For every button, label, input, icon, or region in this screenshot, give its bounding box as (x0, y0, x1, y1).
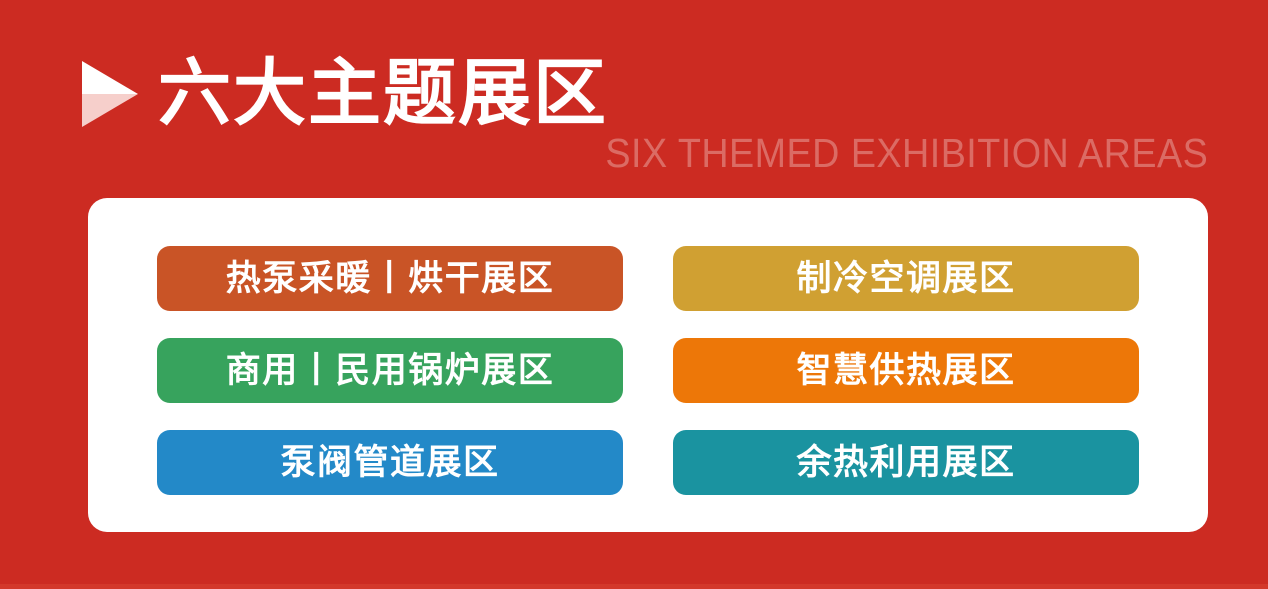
title-row: 六大主题展区 (78, 52, 1208, 136)
zone-grid: 热泵采暖丨烘干展区 制冷空调展区 商用丨民用锅炉展区 智慧供热展区 泵阀管道展区… (157, 246, 1139, 495)
zone-heat-pump-heating-drying[interactable]: 热泵采暖丨烘干展区 (157, 246, 623, 311)
six-themed-exhibition-areas-poster: 六大主题展区 SIX THEMED EXHIBITION AREAS 热泵采暖丨… (0, 0, 1268, 589)
poster-header: 六大主题展区 SIX THEMED EXHIBITION AREAS (78, 52, 1208, 182)
zone-label: 热泵采暖丨烘干展区 (226, 260, 555, 298)
zone-label: 制冷空调展区 (796, 260, 1015, 298)
zone-smart-heating[interactable]: 智慧供热展区 (673, 338, 1139, 403)
zones-card: 热泵采暖丨烘干展区 制冷空调展区 商用丨民用锅炉展区 智慧供热展区 泵阀管道展区… (88, 198, 1208, 532)
zone-label: 智慧供热展区 (796, 352, 1015, 390)
zone-label: 余热利用展区 (796, 444, 1015, 482)
bottom-edge-strip (0, 584, 1268, 589)
zone-commercial-residential-boiler[interactable]: 商用丨民用锅炉展区 (157, 338, 623, 403)
page-title: 六大主题展区 (158, 55, 608, 133)
zone-label: 泵阀管道展区 (280, 444, 499, 482)
page-subtitle: SIX THEMED EXHIBITION AREAS (605, 130, 1208, 176)
zone-label: 商用丨民用锅炉展区 (226, 352, 555, 390)
zone-waste-heat-utilization[interactable]: 余热利用展区 (673, 430, 1139, 495)
play-triangle-icon (78, 59, 140, 129)
zone-pump-valve-pipeline[interactable]: 泵阀管道展区 (157, 430, 623, 495)
zone-refrigeration-air-conditioning[interactable]: 制冷空调展区 (673, 246, 1139, 311)
